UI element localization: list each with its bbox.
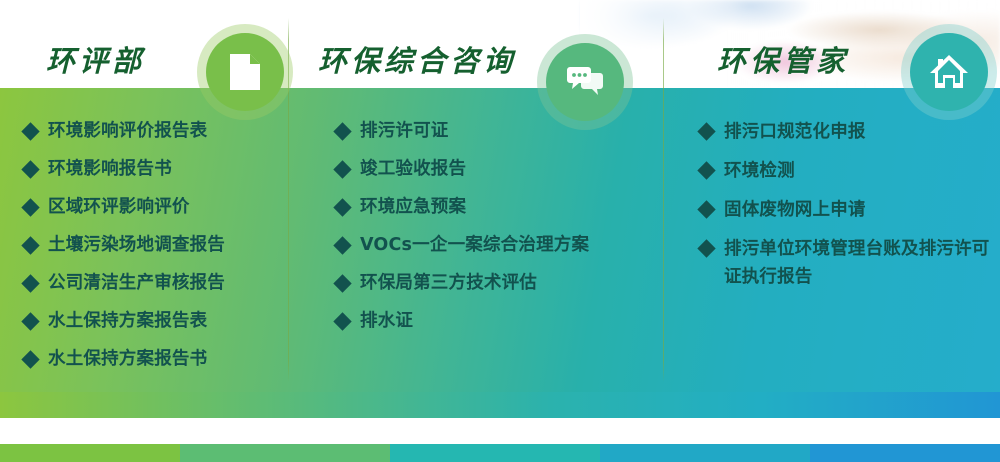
diamond-bullet-icon — [21, 312, 39, 330]
list-item[interactable]: 固体废物网上申请 — [700, 196, 992, 224]
list-item[interactable]: 竣工验收报告 — [336, 156, 656, 183]
column-title-housekeeper: 环保管家 — [717, 38, 849, 80]
diamond-bullet-icon — [333, 274, 351, 292]
list-item[interactable]: 环境影响评价报告表 — [24, 118, 286, 145]
list-item[interactable]: 环境影响报告书 — [24, 156, 286, 183]
list-item[interactable]: 水土保持方案报告表 — [24, 308, 286, 335]
column-title-consulting: 环保综合咨询 — [318, 38, 516, 80]
list-item[interactable]: 水土保持方案报告书 — [24, 346, 286, 373]
bottom-gradient-bar — [0, 392, 1000, 418]
column-list-environmental-assessment: 环境影响评价报告表 环境影响报告书 区域环评影响评价 土壤污染场地调查报告 公司… — [24, 118, 286, 384]
bottom-segment-3 — [390, 444, 600, 462]
diamond-bullet-icon — [21, 350, 39, 368]
list-item[interactable]: VOCs一企一案综合治理方案 — [336, 232, 656, 259]
list-item[interactable]: 排污口规范化申报 — [700, 118, 992, 146]
list-item[interactable]: 公司清洁生产审核报告 — [24, 270, 286, 297]
diamond-bullet-icon — [21, 236, 39, 254]
list-item[interactable]: 排水证 — [336, 308, 656, 335]
diamond-bullet-icon — [333, 198, 351, 216]
list-item[interactable]: 环保局第三方技术评估 — [336, 270, 656, 297]
document-icon — [228, 52, 262, 92]
bottom-segment-bar — [0, 444, 1000, 462]
diamond-bullet-icon — [697, 122, 715, 140]
diamond-bullet-icon — [333, 122, 351, 140]
document-icon-badge — [206, 33, 284, 111]
bottom-segment-2 — [180, 444, 390, 462]
list-item[interactable]: 环境检测 — [700, 157, 992, 185]
diamond-bullet-icon — [21, 160, 39, 178]
diamond-bullet-icon — [21, 122, 39, 140]
house-icon — [929, 54, 969, 90]
column-divider-2 — [663, 18, 664, 382]
column-list-housekeeper: 排污口规范化申报 环境检测 固体废物网上申请 排污单位环境管理台账及排污许可证执… — [700, 118, 992, 302]
diamond-bullet-icon — [697, 239, 715, 257]
diamond-bullet-icon — [333, 312, 351, 330]
list-item[interactable]: 环境应急预案 — [336, 194, 656, 221]
diamond-bullet-icon — [697, 200, 715, 218]
diamond-bullet-icon — [697, 161, 715, 179]
house-icon-badge — [910, 33, 988, 111]
bottom-segment-1 — [0, 444, 180, 462]
bottom-white-gap — [0, 418, 1000, 444]
diamond-bullet-icon — [21, 274, 39, 292]
chat-bubbles-icon — [566, 66, 604, 98]
diamond-bullet-icon — [333, 160, 351, 178]
diamond-bullet-icon — [21, 198, 39, 216]
diamond-bullet-icon — [333, 236, 351, 254]
bottom-segment-4 — [600, 444, 810, 462]
list-item[interactable]: 土壤污染场地调查报告 — [24, 232, 286, 259]
list-item[interactable]: 区域环评影响评价 — [24, 194, 286, 221]
list-item[interactable]: 排污单位环境管理台账及排污许可证执行报告 — [700, 235, 992, 291]
column-title-environmental-assessment: 环评部 — [46, 38, 145, 80]
column-list-consulting: 排污许可证 竣工验收报告 环境应急预案 VOCs一企一案综合治理方案 环保局第三… — [336, 118, 656, 346]
bottom-segment-5 — [810, 444, 1000, 462]
infographic-banner: 环评部 环保综合咨询 环保管家 环境影响评价报告表 — [0, 0, 1000, 462]
list-item[interactable]: 排污许可证 — [336, 118, 656, 145]
chat-bubbles-icon-badge — [546, 43, 624, 121]
